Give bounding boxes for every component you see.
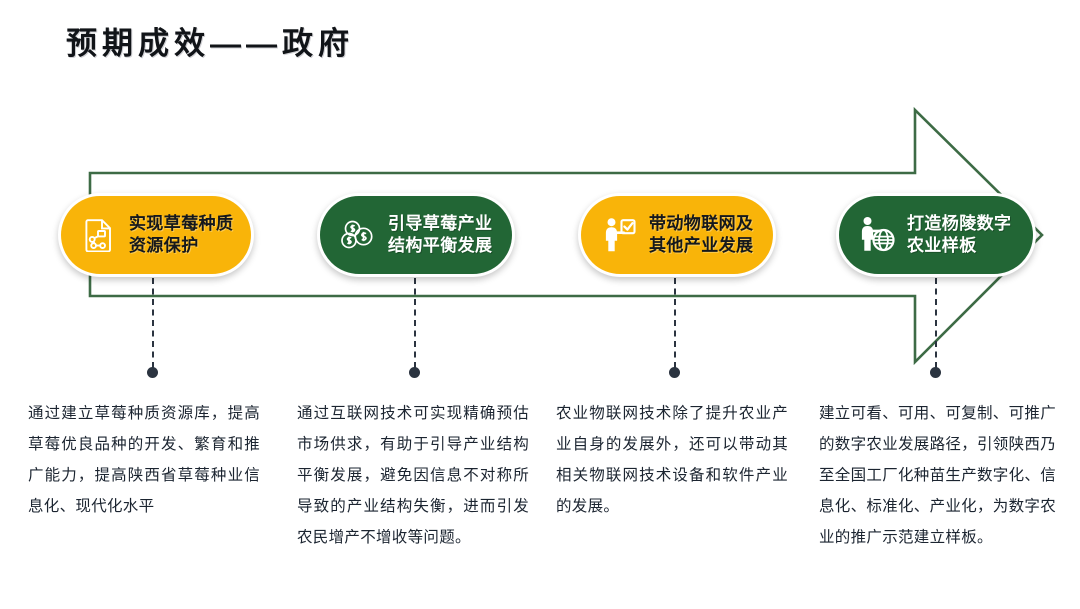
person-checklist-icon [599,213,639,257]
step-pill-label-4: 打造杨陵数字 农业样板 [907,213,1011,257]
step-pill-3[interactable]: 带动物联网及 其他产业发展 [578,193,776,277]
connector-dot-2 [409,367,420,378]
step-pill-2[interactable]: 引导草莓产业 结构平衡发展 [317,193,515,277]
page-title: 预期成效——政府 [66,18,354,63]
step-pill-4[interactable]: 打造杨陵数字 农业样板 [836,193,1036,277]
connector-line-3 [674,278,676,368]
step-pill-label-1: 实现草莓种质 资源保护 [129,213,233,257]
step-description-2: 通过互联网技术可实现精确预估市场供求，有助于引导产业结构平衡发展，避免因信息不对… [297,398,529,553]
connector-line-4 [935,278,937,368]
step-description-1: 通过建立草莓种质资源库，提高草莓优良品种的开发、繁育和推广能力，提高陕西省草莓种… [28,398,260,522]
connector-dot-4 [930,367,941,378]
connector-line-2 [414,278,416,368]
connector-dot-1 [147,367,158,378]
document-network-icon [79,213,119,257]
step-pill-label-3: 带动物联网及 其他产业发展 [649,213,753,257]
coins-money-icon [338,213,378,257]
step-pill-label-2: 引导草莓产业 结构平衡发展 [388,213,492,257]
person-globe-icon [857,213,897,257]
step-description-3: 农业物联网技术除了提升农业产业自身的发展外，还可以带动其相关物联网技术设备和软件… [556,398,788,522]
step-pill-1[interactable]: 实现草莓种质 资源保护 [58,193,254,277]
connector-dot-3 [669,367,680,378]
step-description-4: 建立可看、可用、可复制、可推广的数字农业发展路径，引领陕西乃至全国工厂化种苗生产… [819,398,1056,553]
slide-canvas: 预期成效——政府 实现草莓种质 资源保护 [0,0,1080,609]
connector-line-1 [152,278,154,368]
